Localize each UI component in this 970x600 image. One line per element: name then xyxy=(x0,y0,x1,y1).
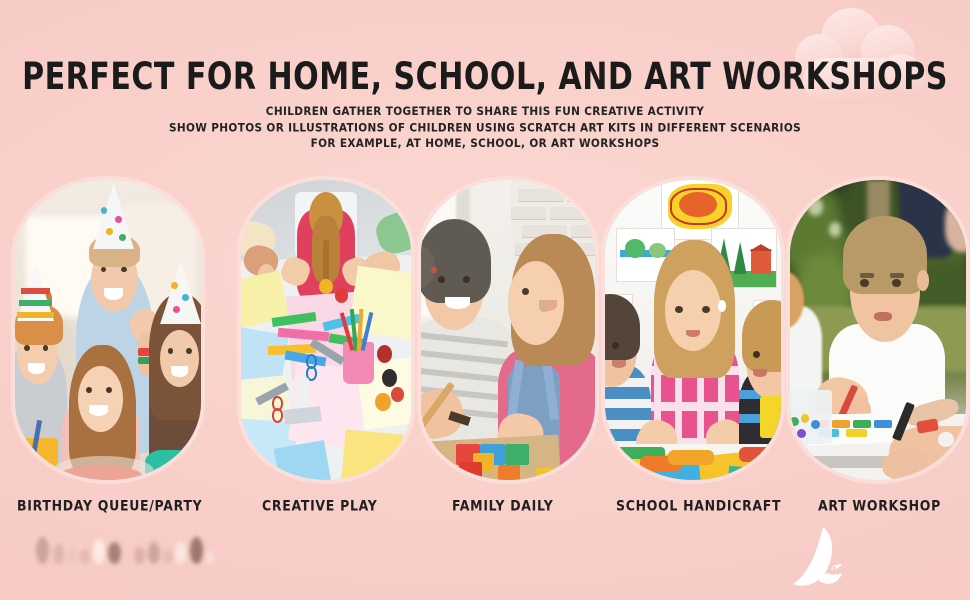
caption-family-daily: FAMILY DAILY xyxy=(452,497,553,514)
photo-art-workshop xyxy=(790,180,966,480)
subtitle-line-3: FOR EXAMPLE, AT HOME, SCHOOL, OR ART WOR… xyxy=(0,136,970,152)
banner-header: PERFECT FOR HOME, SCHOOL, AND ART WORKSH… xyxy=(0,0,970,148)
photo-school-handicraft xyxy=(605,180,781,480)
dove-icon xyxy=(790,523,848,595)
caption-row: BIRTHDAY QUEUE/PARTY CREATIVE PLAY FAMIL… xyxy=(0,497,970,519)
page-title: PERFECT FOR HOME, SCHOOL, AND ART WORKSH… xyxy=(15,55,956,99)
photo-card-school-handicraft[interactable] xyxy=(605,180,781,480)
photo-birthday-party xyxy=(15,180,201,480)
photo-card-creative-play[interactable] xyxy=(241,180,411,480)
decorative-pill-dots xyxy=(36,534,206,568)
photo-creative-play xyxy=(241,180,411,480)
caption-creative-play: CREATIVE PLAY xyxy=(262,497,378,514)
subtitle-block: CHILDREN GATHER TOGETHER TO SHARE THIS F… xyxy=(0,104,970,152)
photo-card-row xyxy=(0,180,970,480)
photo-card-family-daily[interactable] xyxy=(421,180,595,480)
subtitle-line-1: CHILDREN GATHER TOGETHER TO SHARE THIS F… xyxy=(0,104,970,120)
photo-card-birthday-party[interactable] xyxy=(15,180,201,480)
subtitle-line-2: SHOW PHOTOS OR ILLUSTRATIONS OF CHILDREN… xyxy=(0,120,970,136)
caption-birthday-party: BIRTHDAY QUEUE/PARTY xyxy=(17,497,202,514)
photo-family-daily xyxy=(421,180,595,480)
caption-school-handicraft: SCHOOL HANDICRAFT xyxy=(616,497,781,514)
photo-card-art-workshop[interactable] xyxy=(790,180,966,480)
promo-banner: PERFECT FOR HOME, SCHOOL, AND ART WORKSH… xyxy=(0,0,970,600)
caption-art-workshop: ART WORKSHOP xyxy=(818,497,941,514)
